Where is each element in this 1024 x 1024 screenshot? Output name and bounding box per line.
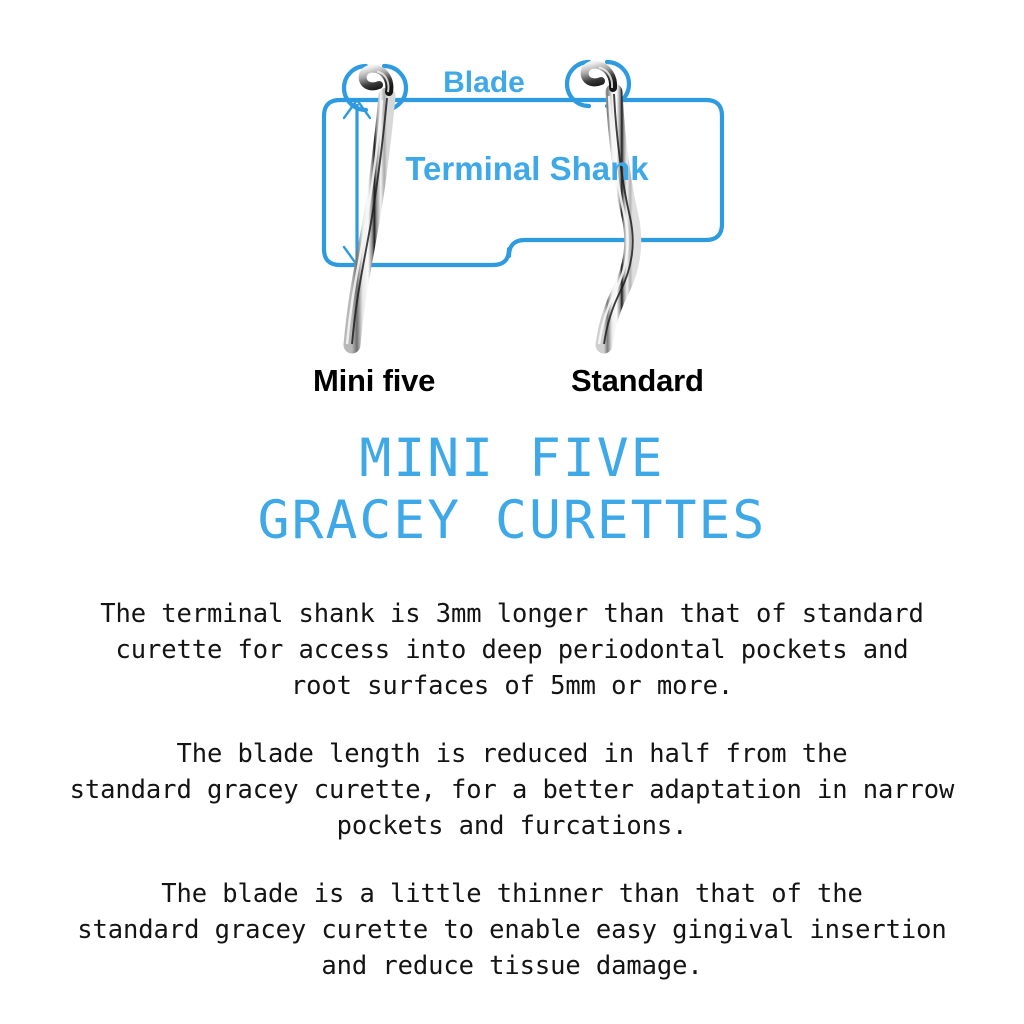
title-line-2: GRACEY CURETTES (0, 490, 1024, 552)
standard-curette-icon (585, 65, 633, 345)
paragraph-line: The blade is a little thinner than that … (0, 876, 1024, 912)
body-copy: The terminal shank is 3mm longer than th… (0, 596, 1024, 984)
diagram-graphic: Blade Terminal Shank (0, 0, 1024, 410)
page-title: MINI FIVE GRACEY CURETTES (0, 428, 1024, 552)
caption-mini-five: Mini five (313, 363, 435, 399)
paragraph-blade-thickness: The blade is a little thinner than that … (0, 876, 1024, 984)
paragraph-line: and reduce tissue damage. (0, 948, 1024, 984)
paragraph-blade-length: The blade length is reduced in half from… (0, 736, 1024, 844)
mini-five-curette-icon (347, 69, 389, 345)
paragraph-line: standard gracey curette, for a better ad… (0, 772, 1024, 808)
paragraph-line: The terminal shank is 3mm longer than th… (0, 596, 1024, 632)
paragraph-line: curette for access into deep periodontal… (0, 632, 1024, 668)
caption-standard: Standard (571, 363, 704, 399)
paragraph-line: pockets and furcations. (0, 808, 1024, 844)
paragraph-terminal-shank: The terminal shank is 3mm longer than th… (0, 596, 1024, 704)
infographic-page: Blade Terminal Shank Mini five Standard … (0, 0, 1024, 1024)
paragraph-line: standard gracey curette to enable easy g… (0, 912, 1024, 948)
curette-comparison-diagram: Blade Terminal Shank Mini five Standard (0, 0, 1024, 410)
paragraph-line: root surfaces of 5mm or more. (0, 668, 1024, 704)
paragraph-line: The blade length is reduced in half from… (0, 736, 1024, 772)
title-line-1: MINI FIVE (0, 428, 1024, 490)
blade-label: Blade (443, 66, 525, 99)
terminal-shank-label: Terminal Shank (405, 150, 649, 187)
